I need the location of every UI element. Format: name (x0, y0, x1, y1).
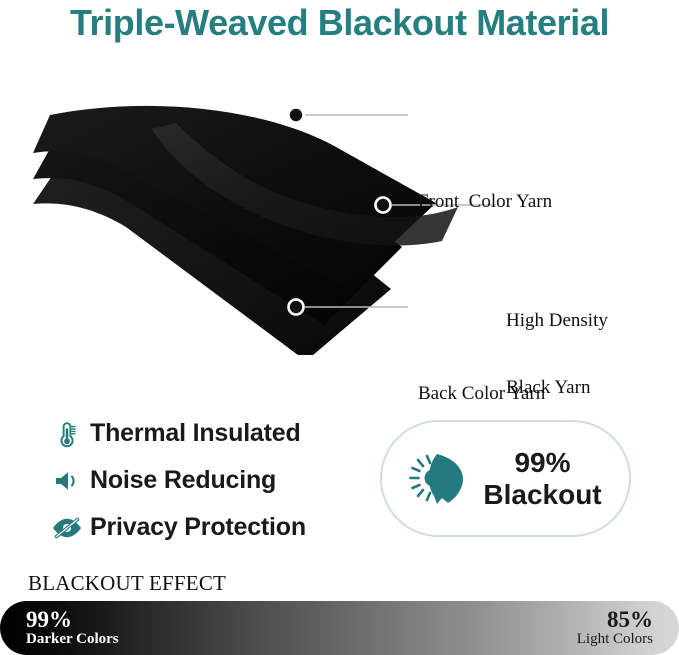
callout-dot-high-density (376, 198, 391, 213)
curtain-shape (429, 454, 463, 504)
sun-behind-curtain-icon (409, 446, 471, 512)
bar-left-endcap: 99% Darker Colors (26, 601, 119, 655)
callout-label-high-density: High Density Black Yarn (506, 265, 608, 444)
eye-slash-icon (44, 515, 90, 541)
feature-label-thermal-insulated: Thermal Insulated (90, 419, 301, 448)
bar-left-percent: 99% (26, 608, 72, 631)
feature-noise-reducing: Noise Reducing (44, 457, 364, 504)
badge-text: 99% Blackout (483, 447, 601, 510)
fabric-diagram: Front Color Yarn High Density Black Yarn… (0, 85, 679, 355)
callout-label-front: Front Color Yarn (418, 191, 552, 213)
bar-left-caption: Darker Colors (26, 631, 119, 648)
feature-label-privacy-protection: Privacy Protection (90, 513, 306, 542)
blackout-effect-heading: BLACKOUT EFFECT (28, 571, 226, 596)
speaker-sound-icon (44, 468, 90, 494)
page-title: Triple-Weaved Blackout Material (0, 2, 679, 44)
features-list: Thermal Insulated Noise Reducing Privacy… (44, 410, 364, 551)
callout-label-back: Back Color Yarn (418, 383, 545, 405)
feature-thermal-insulated: Thermal Insulated (44, 410, 364, 457)
blackout-badge: 99% Blackout (380, 420, 631, 537)
callout-dot-back (289, 300, 304, 315)
callout-label-high-density-line1: High Density (506, 310, 608, 332)
blackout-gradient-bar: 99% Darker Colors 85% Light Colors (0, 601, 679, 655)
badge-percent: 99% (483, 447, 601, 478)
thermometer-icon (44, 419, 90, 449)
bar-right-percent: 85% (607, 608, 653, 631)
badge-word: Blackout (483, 479, 601, 510)
callout-dot-front (289, 108, 304, 123)
callout-front (289, 108, 409, 123)
bar-right-caption: Light Colors (577, 631, 653, 648)
bar-right-endcap: 85% Light Colors (577, 601, 653, 655)
feature-privacy-protection: Privacy Protection (44, 504, 364, 551)
feature-label-noise-reducing: Noise Reducing (90, 466, 276, 495)
